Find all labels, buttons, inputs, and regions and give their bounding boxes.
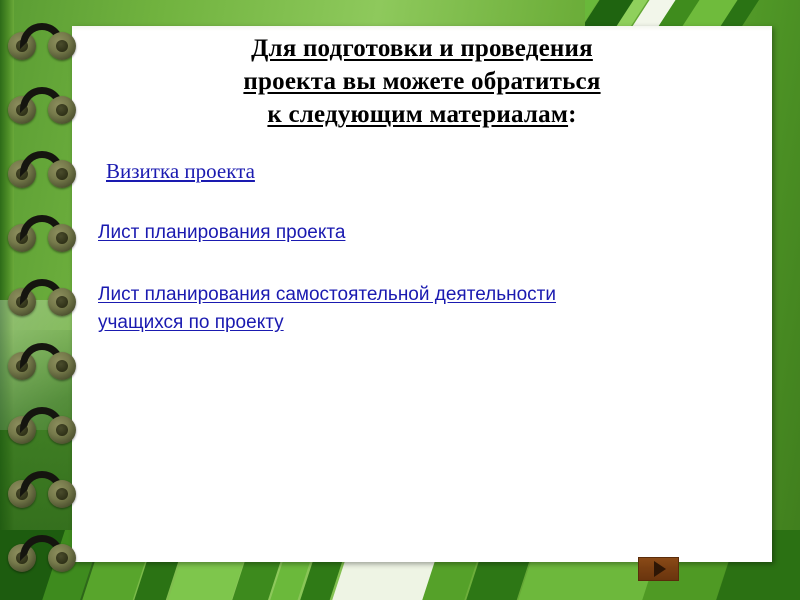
link-project-planning-sheet[interactable]: Лист планирования проекта: [98, 222, 345, 243]
list-item: Визитка проекта: [98, 157, 772, 185]
slide-title-line-1: Для подготовки и проведения: [251, 35, 593, 62]
slide: Для подготовки и проведения проекта вы м…: [0, 0, 800, 600]
slide-content: Для подготовки и проведения проекта вы м…: [72, 26, 772, 562]
slide-title: Для подготовки и проведения проекта вы м…: [72, 26, 772, 131]
play-triangle-icon: [654, 561, 666, 577]
slide-title-line-2: проекта вы можете обратиться: [243, 68, 600, 95]
next-slide-button[interactable]: [638, 557, 679, 581]
list-item: Лист планирования самостоятельной деятел…: [98, 281, 772, 337]
material-links-list: Визитка проекта Лист планирования проект…: [72, 131, 772, 337]
link-project-business-card[interactable]: Визитка проекта: [106, 159, 255, 183]
slide-title-line-3: к следующим материалам: [267, 101, 568, 128]
list-item: Лист планирования проекта: [98, 219, 772, 247]
slide-title-colon: :: [568, 101, 577, 128]
link-student-independent-activity-planning-sheet[interactable]: Лист планирования самостоятельной деятел…: [98, 281, 568, 337]
